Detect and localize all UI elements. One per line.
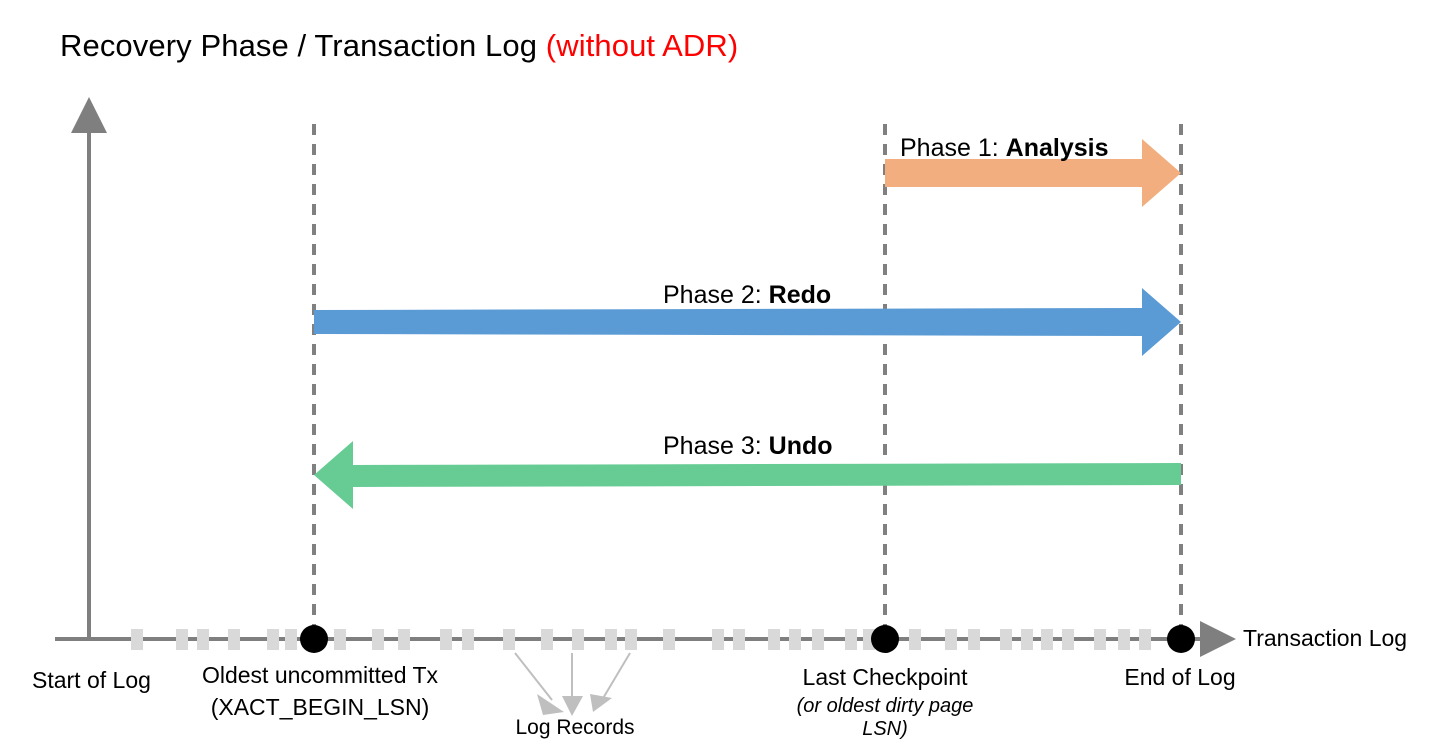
guide-dashed-lines <box>314 124 1181 630</box>
label-transaction-log: Transaction Log <box>1243 624 1407 652</box>
marker-dot-checkpoint <box>871 625 899 653</box>
label-last-checkpoint-sub2: LSN) <box>862 717 908 742</box>
diagram-canvas: Recovery Phase / Transaction Log (withou… <box>0 0 1450 756</box>
marker-dot-end-of-log <box>1167 625 1195 653</box>
diagram-graphics <box>0 0 1450 756</box>
marker-dot-oldest-tx <box>300 625 328 653</box>
label-oldest-tx-line2: (XACT_BEGIN_LSN) <box>211 693 430 721</box>
phase-1-name: Analysis <box>1006 134 1109 162</box>
log-records-leaders <box>515 653 630 716</box>
label-log-records: Log Records <box>515 715 634 741</box>
label-oldest-tx-line1: Oldest uncommitted Tx <box>202 661 438 689</box>
label-end-of-log: End of Log <box>1124 663 1235 691</box>
phase-1-label: Phase 1: Analysis <box>900 133 1108 163</box>
phase-3-number: Phase 3: <box>663 432 769 460</box>
label-start-of-log: Start of Log <box>32 666 151 694</box>
phase-3-label: Phase 3: Undo <box>663 431 833 461</box>
phase-2-name: Redo <box>769 281 832 309</box>
phase-3-name: Undo <box>769 432 833 460</box>
label-last-checkpoint: Last Checkpoint <box>803 663 968 691</box>
phase-2-number: Phase 2: <box>663 281 769 309</box>
phase-2-label: Phase 2: Redo <box>663 280 831 310</box>
label-last-checkpoint-sub1: (or oldest dirty page <box>797 694 974 719</box>
phase-1-number: Phase 1: <box>900 134 1006 162</box>
